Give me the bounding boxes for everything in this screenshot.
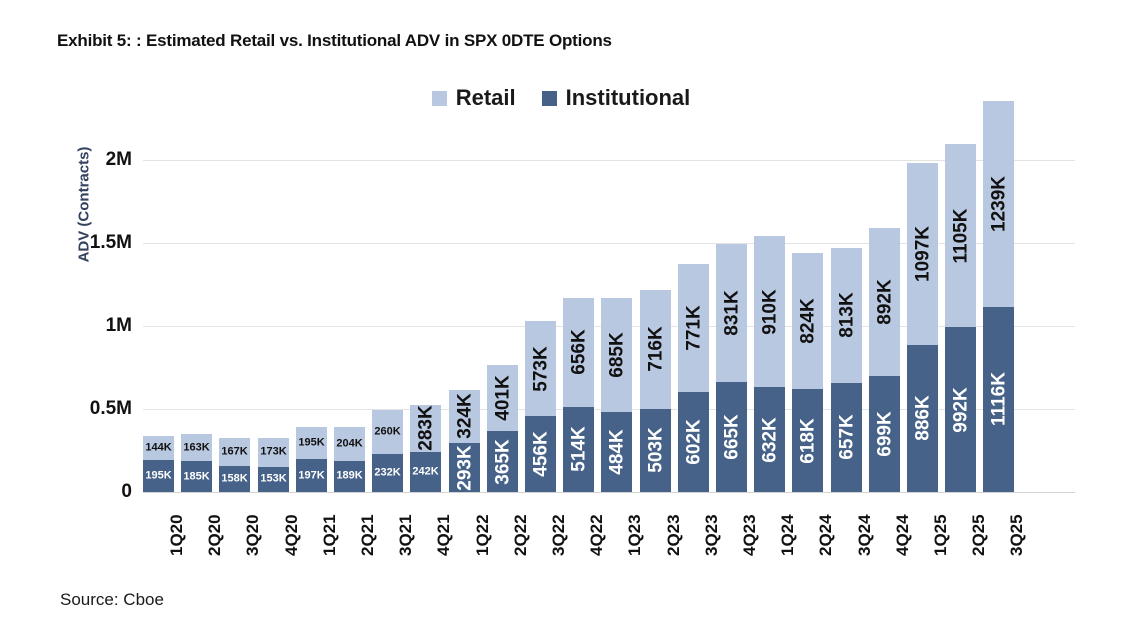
bar-group[interactable]: 185K163K	[181, 434, 212, 492]
bar-value-label-retail: 163K	[183, 442, 209, 453]
bar-value-label-institutional: 618K	[798, 418, 817, 463]
bar-value-label-retail: 260K	[374, 426, 400, 437]
bar-value-label-institutional: 185K	[183, 471, 209, 482]
bar-segment-retail[interactable]: 656K	[563, 298, 594, 407]
bar-segment-institutional[interactable]: 242K	[410, 452, 441, 492]
bar-group[interactable]: 153K173K	[258, 438, 289, 492]
bar-segment-institutional[interactable]: 365K	[487, 431, 518, 492]
bar-value-label-institutional: 657K	[837, 415, 856, 460]
x-tick-label: 2Q22	[511, 514, 531, 556]
bar-value-label-retail: 656K	[569, 330, 588, 375]
bar-value-label-institutional: 484K	[607, 429, 626, 474]
bar-value-label-retail: 831K	[722, 290, 741, 335]
bar-value-label-institutional: 992K	[951, 387, 970, 432]
bar-group[interactable]: 992K1105K	[945, 144, 976, 492]
x-tick-label: 2Q25	[969, 514, 989, 556]
bar-group[interactable]: 197K195K	[296, 427, 327, 492]
bar-value-label-retail: 173K	[260, 447, 286, 458]
bar-segment-retail[interactable]: 716K	[640, 290, 671, 409]
bar-segment-retail[interactable]: 260K	[372, 410, 403, 453]
x-tick-label: 1Q23	[625, 514, 645, 556]
bar-value-label-retail: 324K	[455, 394, 474, 439]
bar-segment-institutional[interactable]: 992K	[945, 327, 976, 492]
bar-value-label-retail: 204K	[336, 438, 362, 449]
bar-group[interactable]: 618K824K	[792, 253, 823, 492]
bar-segment-retail[interactable]: 910K	[754, 236, 785, 387]
x-tick-label: 4Q22	[587, 514, 607, 556]
x-tick-label: 2Q21	[358, 514, 378, 556]
plot-area: ADV (Contracts) 00.5M1M1.5M2M 195K144K18…	[0, 0, 1122, 644]
x-tick-label: 2Q23	[664, 514, 684, 556]
bar-segment-retail[interactable]: 1105K	[945, 144, 976, 327]
bar-segment-institutional[interactable]: 514K	[563, 407, 594, 492]
bar-segment-institutional[interactable]: 195K	[143, 460, 174, 492]
bar-segment-retail[interactable]: 324K	[449, 390, 480, 444]
bar-segment-retail[interactable]: 173K	[258, 438, 289, 467]
x-tick-label: 2Q20	[205, 514, 225, 556]
x-tick-label: 1Q20	[167, 514, 187, 556]
bar-segment-retail[interactable]: 813K	[831, 248, 862, 383]
bar-value-label-retail: 167K	[221, 446, 247, 457]
bar-segment-retail[interactable]: 892K	[869, 228, 900, 376]
x-tick-label: 1Q24	[778, 514, 798, 556]
bar-segment-institutional[interactable]: 232K	[372, 454, 403, 493]
bar-value-label-retail: 401K	[493, 375, 512, 420]
x-tick-label: 3Q21	[396, 514, 416, 556]
x-tick-label: 3Q24	[855, 514, 875, 556]
x-tick-label: 4Q20	[282, 514, 302, 556]
bar-segment-retail[interactable]: 771K	[678, 264, 709, 392]
bar-value-label-institutional: 514K	[569, 427, 588, 472]
bar-group[interactable]: 699K892K	[869, 228, 900, 492]
bar-segment-institutional[interactable]: 185K	[181, 461, 212, 492]
bar-segment-retail[interactable]: 1097K	[907, 163, 938, 345]
bar-value-label-retail: 892K	[875, 279, 894, 324]
bar-value-label-retail: 1097K	[913, 226, 932, 282]
bar-group[interactable]: 665K831K	[716, 244, 747, 492]
x-tick-label: 1Q22	[473, 514, 493, 556]
bar-value-label-retail: 1105K	[951, 208, 970, 263]
x-tick-label: 2Q24	[816, 514, 836, 556]
bar-group[interactable]: 242K283K	[410, 405, 441, 492]
bar-segment-institutional[interactable]: 632K	[754, 387, 785, 492]
x-tick-label: 4Q24	[893, 514, 913, 556]
x-tick-label: 3Q20	[243, 514, 263, 556]
x-tick-label: 1Q21	[320, 514, 340, 556]
bar-value-label-institutional: 232K	[374, 467, 400, 478]
bar-group[interactable]: 632K910K	[754, 236, 785, 492]
bar-group[interactable]: 365K401K	[487, 365, 518, 492]
bar-group[interactable]: 484K685K	[601, 298, 632, 492]
bar-value-label-institutional: 197K	[298, 470, 324, 481]
bar-value-label-retail: 813K	[837, 293, 856, 338]
bar-value-label-institutional: 456K	[531, 431, 550, 476]
bar-segment-retail[interactable]: 204K	[334, 427, 365, 461]
bar-value-label-institutional: 1116K	[989, 372, 1008, 426]
bar-value-label-retail: 716K	[646, 326, 665, 371]
bar-value-label-retail: 283K	[416, 406, 435, 451]
bar-group[interactable]: 886K1097K	[907, 163, 938, 492]
bar-value-label-institutional: 665K	[722, 414, 741, 459]
bar-group[interactable]: 189K204K	[334, 427, 365, 492]
bar-segment-institutional[interactable]: 886K	[907, 345, 938, 492]
bar-value-label-institutional: 699K	[875, 411, 894, 456]
bar-segment-retail[interactable]: 1239K	[983, 101, 1014, 307]
bar-segment-institutional[interactable]: 189K	[334, 461, 365, 492]
x-tick-label: 3Q25	[1007, 514, 1027, 556]
bar-segment-institutional[interactable]: 618K	[792, 389, 823, 492]
bar-value-label-institutional: 503K	[646, 428, 665, 473]
bar-segment-institutional[interactable]: 1116K	[983, 307, 1014, 492]
bar-segment-institutional[interactable]: 293K	[449, 443, 480, 492]
x-tick-label: 1Q25	[931, 514, 951, 556]
bar-value-label-retail: 1239K	[989, 176, 1008, 232]
bar-group[interactable]: 195K144K	[143, 436, 174, 492]
bar-group[interactable]: 503K716K	[640, 290, 671, 492]
bar-segment-institutional[interactable]: 153K	[258, 467, 289, 492]
bar-value-label-retail: 685K	[607, 332, 626, 377]
bar-group[interactable]: 456K573K	[525, 321, 556, 492]
bar-group[interactable]: 1116K1239K	[983, 101, 1014, 492]
bar-segment-institutional[interactable]: 602K	[678, 392, 709, 492]
bar-value-label-institutional: 886K	[913, 396, 932, 441]
bar-value-label-retail: 144K	[145, 442, 171, 453]
bar-value-label-retail: 824K	[798, 298, 817, 343]
bar-value-label-retail: 910K	[760, 289, 779, 334]
bar-segment-institutional[interactable]: 657K	[831, 383, 862, 492]
bar-segment-institutional[interactable]: 197K	[296, 459, 327, 492]
bar-value-label-institutional: 365K	[493, 439, 512, 484]
bar-value-label-retail: 195K	[298, 438, 324, 449]
bar-segment-institutional[interactable]: 699K	[869, 376, 900, 492]
bar-segment-institutional[interactable]: 503K	[640, 409, 671, 492]
x-tick-label: 3Q23	[702, 514, 722, 556]
bar-value-label-institutional: 293K	[455, 445, 474, 490]
bar-segment-retail[interactable]: 195K	[296, 427, 327, 459]
bar-segment-retail[interactable]: 685K	[601, 298, 632, 412]
bar-group[interactable]: 514K656K	[563, 298, 594, 492]
bar-group[interactable]: 657K813K	[831, 248, 862, 492]
bar-segment-institutional[interactable]: 456K	[525, 416, 556, 492]
bar-segment-institutional[interactable]: 665K	[716, 382, 747, 492]
bar-segment-institutional[interactable]: 158K	[219, 466, 250, 492]
bar-value-label-institutional: 153K	[260, 474, 286, 485]
bar-value-label-retail: 573K	[531, 346, 550, 391]
bar-segment-retail[interactable]: 824K	[792, 253, 823, 390]
bar-value-label-institutional: 602K	[684, 419, 703, 464]
bar-group[interactable]: 602K771K	[678, 264, 709, 492]
bar-segment-retail[interactable]: 283K	[410, 405, 441, 452]
source-note: Source: Cboe	[60, 590, 164, 610]
bar-segment-retail[interactable]: 401K	[487, 365, 518, 432]
bar-group[interactable]: 293K324K	[449, 390, 480, 492]
bar-group[interactable]: 158K167K	[219, 438, 250, 492]
bar-value-label-retail: 771K	[684, 305, 703, 350]
bar-group[interactable]: 232K260K	[372, 410, 403, 492]
bar-value-label-institutional: 242K	[412, 466, 438, 477]
bar-segment-retail[interactable]: 573K	[525, 321, 556, 416]
bar-value-label-institutional: 189K	[336, 471, 362, 482]
bar-segment-institutional[interactable]: 484K	[601, 412, 632, 492]
bar-segment-retail[interactable]: 831K	[716, 244, 747, 382]
bar-segment-retail[interactable]: 144K	[143, 436, 174, 460]
x-tick-label: 3Q22	[549, 514, 569, 556]
x-tick-label: 4Q23	[740, 514, 760, 556]
bar-value-label-institutional: 632K	[760, 417, 779, 462]
bar-segment-retail[interactable]: 163K	[181, 434, 212, 461]
bar-value-label-institutional: 158K	[221, 473, 247, 484]
bar-segment-retail[interactable]: 167K	[219, 438, 250, 466]
x-tick-label: 4Q21	[434, 514, 454, 556]
bar-value-label-institutional: 195K	[145, 470, 171, 481]
